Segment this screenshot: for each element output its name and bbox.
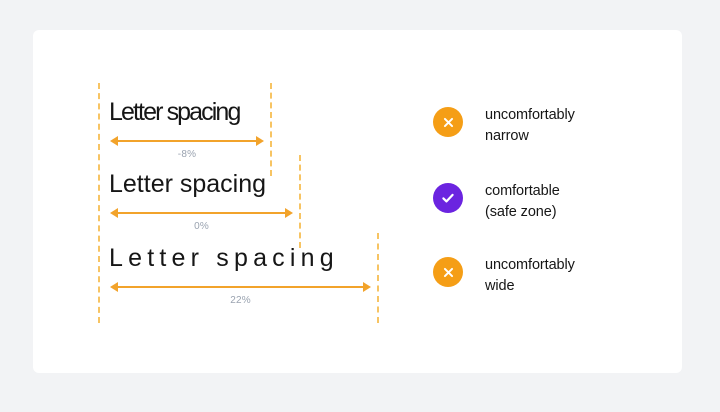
- sample-text-narrow: Letter spacing: [109, 97, 239, 127]
- legend-item-comfortable: comfortable (safe zone): [433, 181, 560, 223]
- guide-line-row-1-right: [270, 83, 272, 176]
- arrow-shaft: [117, 212, 286, 214]
- percent-label-wide: 22%: [110, 295, 371, 306]
- legend-label-comfortable: comfortable (safe zone): [485, 181, 560, 223]
- sample-text-wide: Letter spacing: [109, 243, 339, 273]
- arrow-head-right-icon: [363, 282, 371, 292]
- guide-line-row-2-right: [299, 155, 301, 248]
- letter-spacing-diagram: Letter spacing -8% Letter spacing 0%: [98, 83, 448, 328]
- content-card: Letter spacing -8% Letter spacing 0%: [33, 30, 682, 373]
- legend-label-wide: uncomfortably wide: [485, 255, 575, 297]
- percent-label-narrow: -8%: [110, 149, 264, 160]
- guide-line-left: [98, 83, 100, 323]
- check-circle-icon: [433, 183, 463, 213]
- legend-item-narrow: uncomfortably narrow: [433, 105, 575, 147]
- sample-text-normal: Letter spacing: [109, 169, 266, 199]
- measure-arrow-narrow: [110, 135, 264, 147]
- x-circle-icon: [433, 107, 463, 137]
- arrow-head-right-icon: [285, 208, 293, 218]
- arrow-shaft: [117, 140, 257, 142]
- measure-arrow-wide: [110, 281, 371, 293]
- x-circle-icon: [433, 257, 463, 287]
- legend-label-narrow: uncomfortably narrow: [485, 105, 575, 147]
- arrow-shaft: [117, 286, 364, 288]
- percent-label-normal: 0%: [110, 221, 293, 232]
- arrow-head-right-icon: [256, 136, 264, 146]
- measure-arrow-normal: [110, 207, 293, 219]
- guide-line-row-3-right: [377, 233, 379, 323]
- screenshot-stage: Letter spacing -8% Letter spacing 0%: [0, 0, 720, 412]
- legend-item-wide: uncomfortably wide: [433, 255, 575, 297]
